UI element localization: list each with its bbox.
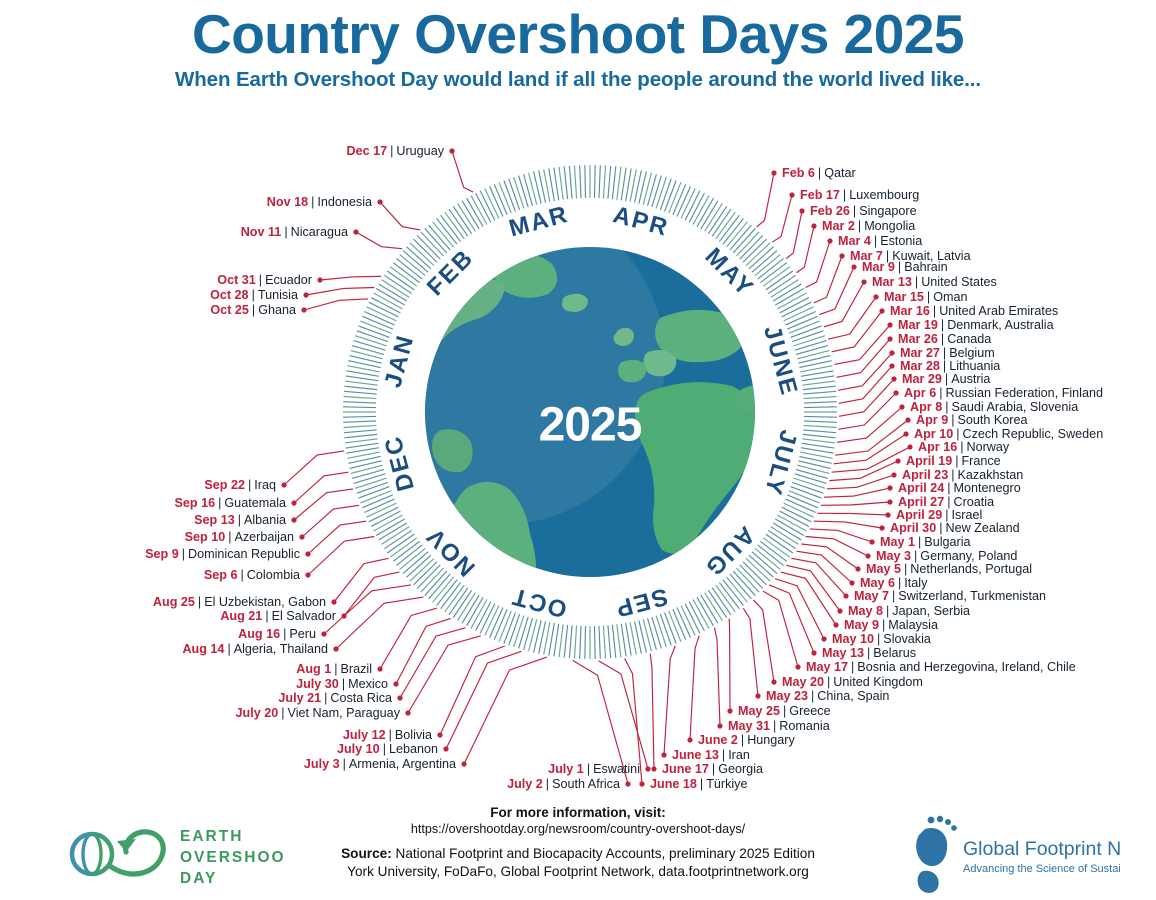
overshoot-countries: Romania — [779, 719, 829, 733]
leader-dot — [799, 208, 804, 213]
leader-line — [828, 297, 876, 339]
leader-line — [796, 226, 814, 273]
earth-overshoot-day-logo: EARTH OVERSHOOT DAY — [60, 818, 285, 890]
leader-dot — [861, 279, 866, 284]
leader-dot — [827, 238, 832, 243]
leader-dot — [331, 599, 336, 604]
overshoot-date: Sep 6 — [204, 568, 238, 582]
leader-line — [304, 299, 368, 310]
label-separator: | — [259, 273, 262, 287]
label-separator: | — [955, 454, 958, 468]
leader-dot — [317, 277, 322, 282]
overshoot-label: July 21|Costa Rica — [278, 692, 392, 705]
leader-dot — [341, 613, 346, 618]
label-separator: | — [311, 195, 314, 209]
overshoot-date: May 1 — [880, 535, 915, 549]
leader-dot — [651, 766, 656, 771]
page-title: Country Overshoot Days 2025 — [0, 6, 1156, 64]
label-separator: | — [898, 576, 901, 590]
overshoot-date: Sep 22 — [204, 478, 245, 492]
overshoot-countries: Nicaragua — [291, 225, 348, 239]
leader-line — [834, 325, 890, 364]
leader-line — [464, 657, 547, 764]
overshoot-countries: Luxembourg — [849, 188, 919, 202]
overshoot-countries: Viet Nam, Paraguay — [288, 706, 400, 720]
overshoot-countries: Costa Rica — [330, 691, 392, 705]
label-separator: | — [773, 719, 776, 733]
globe-landmasses — [335, 195, 774, 628]
leader-dot — [891, 376, 896, 381]
leader-dot — [855, 566, 860, 571]
label-separator: | — [867, 646, 870, 660]
globe-ocean — [425, 247, 755, 577]
leader-line — [446, 651, 521, 749]
overshoot-countries: Uruguay — [396, 144, 444, 158]
overshoot-countries: Ecuador — [265, 273, 312, 287]
overshoot-countries: United States — [921, 275, 997, 289]
overshoot-date: Mar 13 — [872, 275, 912, 289]
month-label-aug: AUG — [699, 521, 760, 582]
overshoot-date: Apr 8 — [910, 400, 942, 414]
label-separator: | — [252, 303, 255, 317]
leader-dot — [303, 292, 308, 297]
overshoot-date: July 1 — [548, 762, 584, 776]
overshoot-date: Oct 28 — [210, 288, 249, 302]
label-separator: | — [947, 481, 950, 495]
overshoot-date: Mar 9 — [862, 260, 895, 274]
overshoot-date: July 3 — [304, 757, 340, 771]
leader-dot — [889, 363, 894, 368]
label-separator: | — [811, 689, 814, 703]
leader-line — [814, 256, 842, 303]
overshoot-countries: Mexico — [348, 677, 388, 691]
overshoot-label: April 29|Israel — [896, 509, 982, 522]
overshoot-countries: Azerbaijan — [234, 530, 294, 544]
overshoot-countries: Estonia — [880, 234, 922, 248]
leader-dot — [461, 761, 466, 766]
leader-dot — [397, 695, 402, 700]
overshoot-date: May 3 — [876, 549, 911, 563]
leader-dot — [869, 539, 874, 544]
overshoot-date: June 2 — [698, 733, 738, 747]
label-separator: | — [877, 632, 880, 646]
leader-dot — [899, 404, 904, 409]
overshoot-countries: Brazil — [341, 662, 373, 676]
label-separator: | — [853, 204, 856, 218]
leader-line — [775, 579, 824, 639]
leader-dot — [879, 525, 884, 530]
leader-dot — [333, 646, 338, 651]
overshoot-date: May 8 — [848, 604, 883, 618]
overshoot-label: Nov 11|Nicaragua — [241, 226, 348, 239]
overshoot-date: Mar 2 — [822, 219, 855, 233]
leader-dot — [887, 485, 892, 490]
leader-line — [294, 472, 348, 503]
overshoot-countries: Bahrain — [904, 260, 947, 274]
leader-line — [832, 447, 910, 472]
label-separator: | — [951, 413, 954, 427]
overshoot-date: July 30 — [296, 677, 339, 691]
label-separator: | — [324, 691, 327, 705]
month-label-july: JULY — [759, 427, 802, 499]
overshoot-countries: El Salvador — [272, 609, 336, 623]
overshoot-label: Mar 4|Estonia — [838, 235, 922, 248]
overshoot-label: Mar 13|United States — [872, 276, 997, 289]
overshoot-label: April 30|New Zealand — [890, 522, 1020, 535]
overshoot-label: May 17|Bosnia and Herzegovina, Ireland, … — [806, 661, 1076, 674]
overshoot-label: Mar 29|Austria — [902, 373, 990, 386]
leader-dot — [449, 148, 454, 153]
overshoot-label: Apr 16|Norway — [918, 441, 1009, 454]
overshoot-countries: South Korea — [957, 413, 1027, 427]
overshoot-date: Aug 1 — [296, 662, 331, 676]
overshoot-label: Oct 31|Ecuador — [217, 274, 312, 287]
overshoot-label: Feb 26|Singapore — [810, 205, 917, 218]
label-separator: | — [943, 359, 946, 373]
leader-dot — [687, 737, 692, 742]
month-label-may: MAY — [700, 243, 759, 302]
leader-dot — [771, 170, 776, 175]
leader-line — [308, 521, 366, 554]
globe-center-year: 2025 — [539, 399, 642, 452]
leader-dot — [377, 199, 382, 204]
leader-line — [408, 636, 481, 713]
overshoot-date: May 7 — [854, 589, 889, 603]
leader-line — [839, 366, 892, 403]
leader-dot — [907, 444, 912, 449]
leader-dot — [843, 593, 848, 598]
overshoot-date: May 9 — [844, 618, 879, 632]
leader-line — [814, 521, 882, 528]
overshoot-label: Sep 6|Colombia — [204, 569, 300, 582]
overshoot-countries: Russian Federation, Finland — [945, 386, 1103, 400]
overshoot-label: April 27|Croatia — [898, 496, 994, 509]
leader-line — [306, 288, 374, 296]
overshoot-label: May 1|Bulgaria — [880, 536, 971, 549]
overshoot-date: May 13 — [822, 646, 864, 660]
label-separator: | — [960, 440, 963, 454]
label-separator: | — [284, 225, 287, 239]
leader-line — [650, 654, 654, 769]
overshoot-label: Mar 15|Oman — [884, 291, 967, 304]
overshoot-label: May 5|Netherlands, Portugal — [866, 563, 1032, 576]
leader-line — [769, 585, 814, 653]
leader-line — [824, 488, 890, 497]
overshoot-date: May 17 — [806, 660, 848, 674]
leader-dot — [887, 499, 892, 504]
overshoot-countries: Dominican Republic — [188, 547, 300, 561]
leader-line — [786, 211, 802, 259]
overshoot-countries: Croatia — [953, 495, 994, 509]
leader-line — [334, 558, 389, 602]
overshoot-countries: Colombia — [247, 568, 300, 582]
overshoot-countries: Malaysia — [888, 618, 938, 632]
label-separator: | — [722, 748, 725, 762]
label-separator: | — [882, 618, 885, 632]
overshoot-date: May 6 — [860, 576, 895, 590]
overshoot-countries: Georgia — [718, 762, 763, 776]
overshoot-label: Feb 6|Qatar — [782, 167, 856, 180]
leader-dot — [353, 229, 358, 234]
overshoot-countries: Israel — [951, 508, 982, 522]
leader-dot — [639, 781, 644, 786]
leader-line — [396, 618, 451, 684]
overshoot-label: April 24|Montenegro — [898, 482, 1021, 495]
leader-line — [819, 267, 854, 315]
overshoot-date: Oct 31 — [217, 273, 256, 287]
overshoot-countries: Belarus — [873, 646, 916, 660]
overshoot-date: Mar 19 — [898, 318, 938, 332]
leader-line — [832, 311, 882, 352]
leader-line — [834, 434, 906, 464]
leader-line — [757, 173, 774, 227]
overshoot-countries: Hungary — [747, 733, 795, 747]
overshoot-countries: Algeria, Thailand — [234, 642, 328, 656]
overshoot-label: Aug 16|Peru — [238, 628, 316, 641]
leader-line — [838, 393, 896, 429]
month-label-feb: FEB — [422, 244, 479, 301]
overshoot-date: Nov 18 — [267, 195, 308, 209]
overshoot-countries: Austria — [951, 372, 990, 386]
overshoot-date: May 25 — [738, 704, 780, 718]
leader-dot — [305, 551, 310, 556]
gfn-name: Global Footprint Network — [963, 838, 1120, 860]
month-label-oct: OCT — [508, 582, 570, 623]
leader-line — [781, 572, 836, 625]
leader-dot — [821, 636, 826, 641]
overshoot-date: Feb 6 — [782, 166, 815, 180]
infographic-canvas: Country Overshoot Days 2025 When Earth O… — [0, 0, 1156, 900]
label-separator: | — [228, 530, 231, 544]
overshoot-label: Mar 28|Lithuania — [900, 360, 1000, 373]
overshoot-date: Mar 27 — [900, 346, 940, 360]
overshoot-countries: China, Spain — [817, 689, 889, 703]
leader-line — [763, 591, 798, 667]
label-separator: | — [389, 728, 392, 742]
month-label-dec: DEC — [379, 432, 420, 494]
overshoot-date: Feb 17 — [800, 188, 840, 202]
label-separator: | — [892, 589, 895, 603]
overshoot-date: Sep 10 — [185, 530, 226, 544]
overshoot-label: June 17|Georgia — [662, 763, 763, 776]
leader-line — [664, 646, 675, 755]
overshoot-countries: Mongolia — [864, 219, 915, 233]
overshoot-date: Apr 9 — [916, 413, 948, 427]
overshoot-countries: Denmark, Australia — [947, 318, 1053, 332]
overshoot-label: May 6|Italy — [860, 577, 927, 590]
label-separator: | — [248, 478, 251, 492]
label-separator: | — [947, 495, 950, 509]
leader-dot — [717, 723, 722, 728]
label-separator: | — [943, 346, 946, 360]
leader-dot — [405, 710, 410, 715]
leader-dot — [837, 608, 842, 613]
overshoot-date: May 23 — [766, 689, 808, 703]
overshoot-date: April 24 — [898, 481, 944, 495]
overshoot-label: Dec 17|Uruguay — [346, 145, 444, 158]
label-separator: | — [281, 706, 284, 720]
leader-dot — [905, 417, 910, 422]
label-separator: | — [227, 642, 230, 656]
leader-line — [796, 551, 852, 583]
overshoot-countries: United Kingdom — [833, 675, 923, 689]
gfn-tagline: Advancing the Science of Sustainability — [963, 863, 1120, 875]
overshoot-date: May 20 — [782, 675, 824, 689]
overshoot-label: May 9|Malaysia — [844, 619, 938, 632]
footprint-icon — [916, 816, 957, 893]
leader-line — [356, 232, 402, 249]
overshoot-date: April 19 — [906, 454, 952, 468]
overshoot-label: July 3|Armenia, Argentina — [304, 758, 456, 771]
overshoot-date: Apr 6 — [904, 386, 936, 400]
label-separator: | — [945, 400, 948, 414]
overshoot-countries: Belgium — [949, 346, 995, 360]
leader-line — [400, 628, 466, 698]
overshoot-date: Mar 26 — [898, 332, 938, 346]
leader-line — [690, 636, 699, 740]
overshoot-countries: Tunisia — [258, 288, 298, 302]
overshoot-label: May 13|Belarus — [822, 647, 916, 660]
month-label-june: JUNE — [758, 323, 803, 400]
overshoot-label: May 10|Slovakia — [832, 633, 931, 646]
overshoot-date: June 17 — [662, 762, 709, 776]
overshoot-label: May 8|Japan, Serbia — [848, 605, 970, 618]
leader-dot — [887, 322, 892, 327]
leader-dot — [377, 666, 382, 671]
leader-dot — [299, 534, 304, 539]
leader-line — [821, 502, 890, 505]
leader-line — [302, 505, 359, 537]
overshoot-date: July 12 — [343, 728, 386, 742]
leader-line — [835, 420, 908, 455]
leader-line — [786, 565, 840, 611]
overshoot-countries: Indonesia — [317, 195, 372, 209]
overshoot-date: Sep 13 — [194, 513, 235, 527]
leader-line — [772, 195, 792, 242]
leader-line — [324, 585, 411, 634]
overshoot-date: Sep 9 — [145, 547, 179, 561]
overshoot-countries: United Arab Emirates — [939, 304, 1058, 318]
month-label-nov: NOV — [421, 521, 481, 581]
overshoot-date: Feb 26 — [810, 204, 850, 218]
month-label-sep: SEP — [611, 582, 670, 622]
overshoot-label: May 25|Greece — [738, 705, 831, 718]
overshoot-label: Mar 19|Denmark, Australia — [898, 319, 1054, 332]
leader-line — [837, 407, 902, 442]
source-label: Source: — [341, 846, 392, 861]
overshoot-countries: Qatar — [824, 166, 856, 180]
overshoot-countries: Türkiye — [706, 777, 747, 791]
overshoot-countries: Guatemala — [224, 496, 286, 510]
label-separator: | — [941, 318, 944, 332]
overshoot-countries: Saudi Arabia, Slovenia — [951, 400, 1078, 414]
leader-dot — [281, 482, 286, 487]
overshoot-countries: Slovakia — [883, 632, 931, 646]
overshoot-label: Feb 17|Luxembourg — [800, 189, 919, 202]
leader-line — [824, 282, 864, 327]
leader-line — [743, 608, 758, 696]
leader-dot — [755, 693, 760, 698]
leader-line — [837, 339, 890, 377]
label-separator: | — [383, 742, 386, 756]
leader-line — [827, 475, 894, 489]
overshoot-countries: South Africa — [552, 777, 620, 791]
leader-dot — [849, 580, 854, 585]
overshoot-date: Dec 17 — [346, 144, 387, 158]
leader-line — [810, 529, 872, 542]
overshoot-label: Sep 10|Azerbaijan — [185, 531, 294, 544]
overshoot-label: Sep 9|Dominican Republic — [145, 548, 300, 561]
label-separator: | — [700, 777, 703, 791]
overshoot-date: July 21 — [278, 691, 321, 705]
leader-line — [806, 537, 868, 557]
label-separator: | — [218, 496, 221, 510]
leader-dot — [879, 308, 884, 313]
leader-dot — [393, 681, 398, 686]
overshoot-date: July 20 — [236, 706, 279, 720]
overshoot-countries: Albania — [244, 513, 286, 527]
overshoot-countries: Eswatini — [593, 762, 640, 776]
label-separator: | — [915, 275, 918, 289]
overshoot-label: April 19|France — [906, 455, 1001, 468]
overshoot-date: April 30 — [890, 521, 936, 535]
overshoot-label: June 2|Hungary — [698, 734, 795, 747]
month-label-jan: JAN — [380, 331, 420, 390]
leader-line — [817, 513, 888, 515]
leader-dot — [893, 390, 898, 395]
overshoot-date: Aug 25 — [153, 595, 195, 609]
overshoot-label: Apr 6|Russian Federation, Finland — [904, 387, 1103, 400]
label-separator: | — [904, 562, 907, 576]
overshoot-label: Mar 26|Canada — [898, 333, 991, 346]
overshoot-countries: Iraq — [254, 478, 276, 492]
leader-line — [308, 537, 374, 576]
leader-line — [753, 600, 774, 682]
overshoot-date: July 10 — [337, 742, 380, 756]
overshoot-countries: Greece — [789, 704, 830, 718]
overshoot-countries: Netherlands, Portugal — [910, 562, 1032, 576]
leader-dot — [839, 253, 844, 258]
label-separator: | — [918, 535, 921, 549]
overshoot-countries: Lebanon — [389, 742, 438, 756]
label-separator: | — [927, 290, 930, 304]
leader-dot — [443, 746, 448, 751]
leader-dot — [889, 350, 894, 355]
label-separator: | — [818, 166, 821, 180]
label-separator: | — [956, 427, 959, 441]
leader-line — [380, 608, 437, 669]
label-separator: | — [390, 144, 393, 158]
overshoot-date: Nov 11 — [241, 225, 282, 239]
overshoot-countries: Montenegro — [953, 481, 1020, 495]
overshoot-label: Aug 1|Brazil — [296, 663, 372, 676]
overshoot-date: Mar 4 — [838, 234, 871, 248]
label-separator: | — [712, 762, 715, 776]
overshoot-countries: Armenia, Argentina — [349, 757, 456, 771]
page-subtitle: When Earth Overshoot Day would land if a… — [0, 68, 1156, 92]
overshoot-countries: Peru — [289, 627, 316, 641]
leader-line — [729, 618, 730, 711]
leader-dot — [291, 517, 296, 522]
leader-dot — [811, 223, 816, 228]
overshoot-date: Apr 16 — [918, 440, 957, 454]
label-separator: | — [945, 508, 948, 522]
tick-ring — [343, 165, 837, 659]
leader-dot — [305, 572, 310, 577]
overshoot-countries: New Zealand — [945, 521, 1019, 535]
logo-line-3: DAY — [180, 870, 217, 887]
label-separator: | — [933, 304, 936, 318]
